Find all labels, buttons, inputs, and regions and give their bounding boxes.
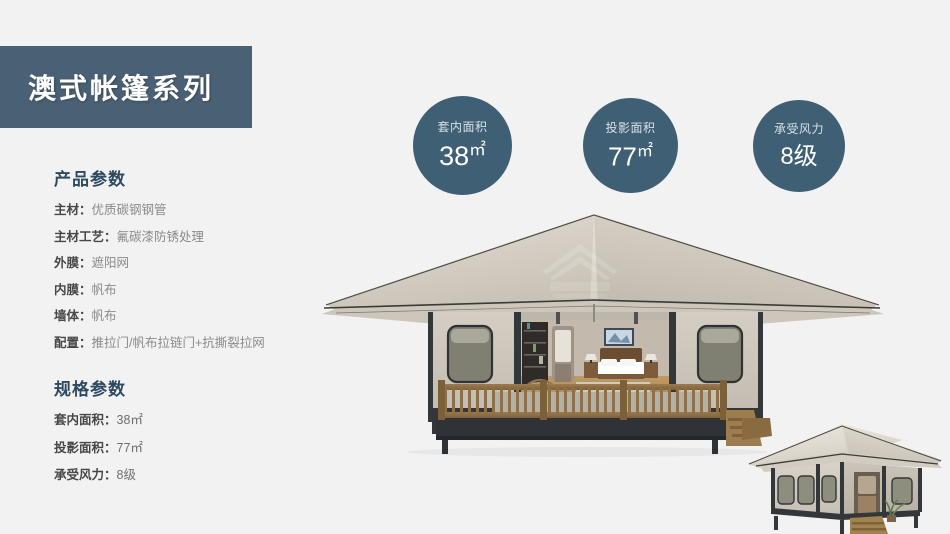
spec-value: 帆布 (92, 283, 117, 297)
spec-label: 主材： (54, 203, 92, 217)
stat-value: 8级 (780, 144, 817, 169)
spec-row: 外膜：遮阳网 (54, 257, 354, 270)
spec-row: 配置：推拉门/帆布拉链门+抗撕裂拉网 (54, 337, 354, 350)
pillow-left (601, 359, 617, 366)
deck-base (436, 418, 726, 436)
pillow-right (620, 359, 636, 366)
spec-label: 投影面积： (54, 441, 117, 455)
thumb-window-2 (798, 476, 814, 504)
title-banner: 澳式帐篷系列 (0, 46, 252, 128)
thumb-post-4 (882, 466, 886, 516)
spec-label: 墙体： (54, 309, 92, 323)
lamp-shade-right (645, 354, 657, 360)
spec-row: 投影面积：77㎡ (54, 442, 354, 455)
spec-label: 主材工艺： (54, 230, 117, 244)
thumb-window-1 (778, 476, 794, 504)
spec-row: 墙体：帆布 (54, 310, 354, 323)
thumb-window-3 (822, 476, 836, 502)
page-title: 澳式帐篷系列 (28, 67, 214, 107)
deck-shadow (436, 436, 726, 440)
railing-post-mid-right (620, 380, 627, 420)
thumb-post-5 (918, 468, 922, 512)
spec-value: 8级 (117, 468, 136, 482)
post-right-outer (758, 312, 763, 422)
railing-balusters (444, 388, 719, 414)
spec-value: 遮阳网 (92, 256, 130, 270)
spec-value: 帆布 (92, 309, 117, 323)
stat-number: 8级 (780, 143, 817, 170)
tent-thumbnail-illustration (742, 418, 950, 534)
spec-row: 内膜：帆布 (54, 284, 354, 297)
post-left-outer (428, 312, 433, 422)
thumb-leg-1 (774, 516, 778, 530)
stat-unit: ㎡ (469, 140, 486, 159)
thumb-post-2 (816, 464, 820, 514)
spec-label: 外膜： (54, 256, 92, 270)
railing-post-mid-left (540, 380, 547, 420)
thumb-post-3 (840, 462, 844, 516)
stat-circle-interior-area: 套内面积 38㎡ (413, 96, 512, 195)
spec-row: 主材工艺：氟碳漆防锈处理 (54, 231, 354, 244)
ground-shadow (408, 447, 768, 457)
spec-label: 套内面积： (54, 413, 117, 427)
nightstand-right (644, 362, 658, 378)
spec-label: 内膜： (54, 283, 92, 297)
stat-label: 套内面积 (437, 121, 487, 133)
spec-value: 推拉门/帆布拉链门+抗撕裂拉网 (92, 336, 265, 350)
thumb-door-panel (858, 476, 876, 494)
stat-value: 38㎡ (439, 142, 486, 170)
tent-main-illustration (318, 196, 943, 456)
nightstand-left (584, 362, 598, 378)
stat-number: 38 (439, 141, 469, 171)
spec-value: 优质碳钢钢管 (92, 203, 167, 217)
spec-row: 承受风力：8级 (54, 469, 354, 482)
stat-label: 承受风力 (774, 123, 824, 135)
spec-column: 产品参数 主材：优质碳钢钢管 主材工艺：氟碳漆防锈处理 外膜：遮阳网 内膜：帆布… (54, 165, 354, 497)
spec-value: 77㎡ (117, 441, 143, 455)
thumb-deck-fragment (742, 418, 772, 440)
window-left-valance (451, 329, 489, 343)
stat-number: 77 (608, 141, 637, 171)
spec-value: 氟碳漆防锈处理 (117, 230, 205, 244)
stat-circle-projected-area: 投影面积 77㎡ (583, 98, 678, 193)
spec-label: 承受风力： (54, 468, 117, 482)
thumb-window-4 (892, 478, 912, 504)
railing-post-left (438, 380, 445, 420)
spec-value: 38㎡ (117, 413, 143, 427)
stat-label: 投影面积 (605, 122, 655, 134)
thumb-post-1 (771, 468, 775, 514)
tent-angled-view-svg (742, 418, 950, 534)
thumb-leg-3 (914, 514, 918, 528)
window-right-valance (701, 329, 739, 343)
section-heading-spec: 规格参数 (54, 375, 354, 400)
stat-value: 77㎡ (608, 143, 653, 170)
spec-row: 套内面积：38㎡ (54, 414, 354, 427)
thumb-leg-2 (840, 520, 844, 534)
section-heading-product: 产品参数 (54, 165, 354, 190)
thumb-steps (850, 516, 888, 534)
interior-mirror (555, 330, 571, 362)
tent-front-view-svg (318, 196, 943, 456)
spec-row: 主材：优质碳钢钢管 (54, 204, 354, 217)
doorway-lower (555, 364, 571, 382)
railing-post-right (720, 380, 727, 420)
stat-circle-wind-resistance: 承受风力 8级 (753, 100, 845, 192)
bed-base (598, 374, 644, 379)
slide-canvas: 澳式帐篷系列 产品参数 主材：优质碳钢钢管 主材工艺：氟碳漆防锈处理 外膜：遮阳… (0, 0, 950, 534)
lamp-shade-left (585, 354, 597, 360)
spec-label: 配置： (54, 336, 92, 350)
stat-unit: ㎡ (637, 142, 653, 160)
